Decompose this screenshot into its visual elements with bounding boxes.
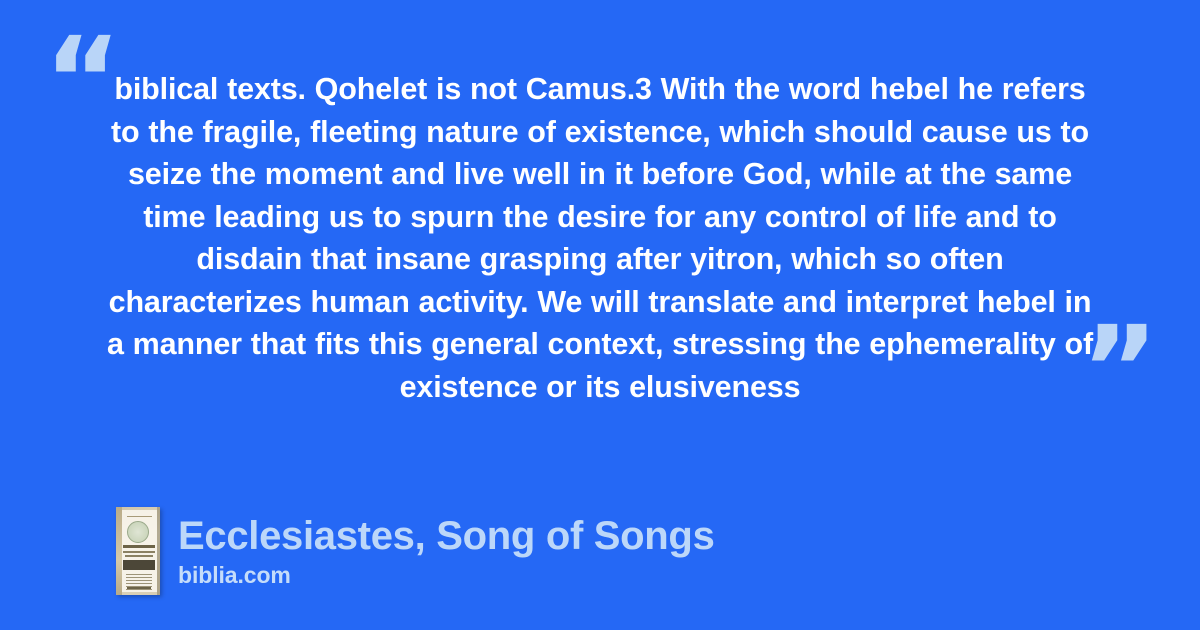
book-cover-thumbnail-icon — [116, 507, 160, 595]
book-title: Ecclesiastes, Song of Songs — [178, 513, 715, 559]
cover-series-sub-line-2 — [125, 555, 153, 557]
cover-series-label — [123, 545, 155, 548]
cover-band — [123, 560, 155, 570]
cover-series-sub-line-1 — [123, 551, 155, 553]
cover-seal-icon — [127, 521, 149, 543]
cover-right-edge — [157, 507, 160, 595]
cover-text-lines — [126, 574, 152, 592]
site-name: biblia.com — [178, 561, 715, 589]
footer-text-group: Ecclesiastes, Song of Songs biblia.com — [178, 513, 715, 589]
cover-left-strip — [116, 507, 122, 595]
quote-block: biblical texts. Qohelet is not Camus.3 W… — [104, 68, 1096, 408]
closing-quote-mark: ” — [1081, 310, 1157, 428]
attribution-footer: Ecclesiastes, Song of Songs biblia.com — [116, 507, 715, 595]
cover-top-rule — [127, 516, 152, 517]
quote-text: biblical texts. Qohelet is not Camus.3 W… — [104, 68, 1096, 408]
quote-card: “ biblical texts. Qohelet is not Camus.3… — [0, 0, 1200, 630]
cover-author-line — [127, 587, 151, 589]
